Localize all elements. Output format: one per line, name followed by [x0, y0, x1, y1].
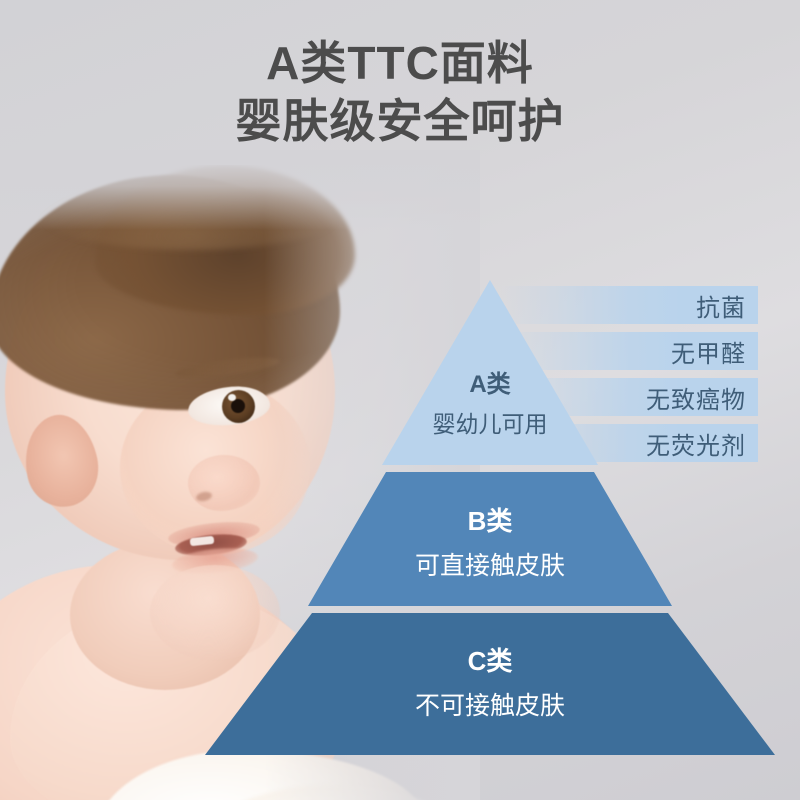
pyramid-tier-b-grade: B类: [468, 506, 513, 536]
pyramid-tier-a-grade: A类: [469, 371, 511, 398]
headline-line-1: A类TTC面料: [0, 36, 800, 90]
pyramid-tier-a-description: 婴幼儿可用: [433, 411, 548, 437]
pyramid-tier-c-grade: C类: [468, 646, 513, 676]
pyramid-tier-c-shape: [205, 613, 775, 755]
pyramid-tier-b-shape: [308, 472, 672, 606]
pyramid-tier-b-description: 可直接触皮肤: [415, 552, 565, 580]
headline: A类TTC面料 婴肤级安全呵护: [0, 36, 800, 149]
headline-line-2: 婴肤级安全呵护: [0, 94, 800, 148]
pyramid-tier-c-description: 不可接触皮肤: [415, 692, 565, 720]
product-poster: A类TTC面料 婴肤级安全呵护 抗菌 无甲醛 无致癌物 无荧光剂 A类 婴幼儿可…: [0, 0, 800, 800]
